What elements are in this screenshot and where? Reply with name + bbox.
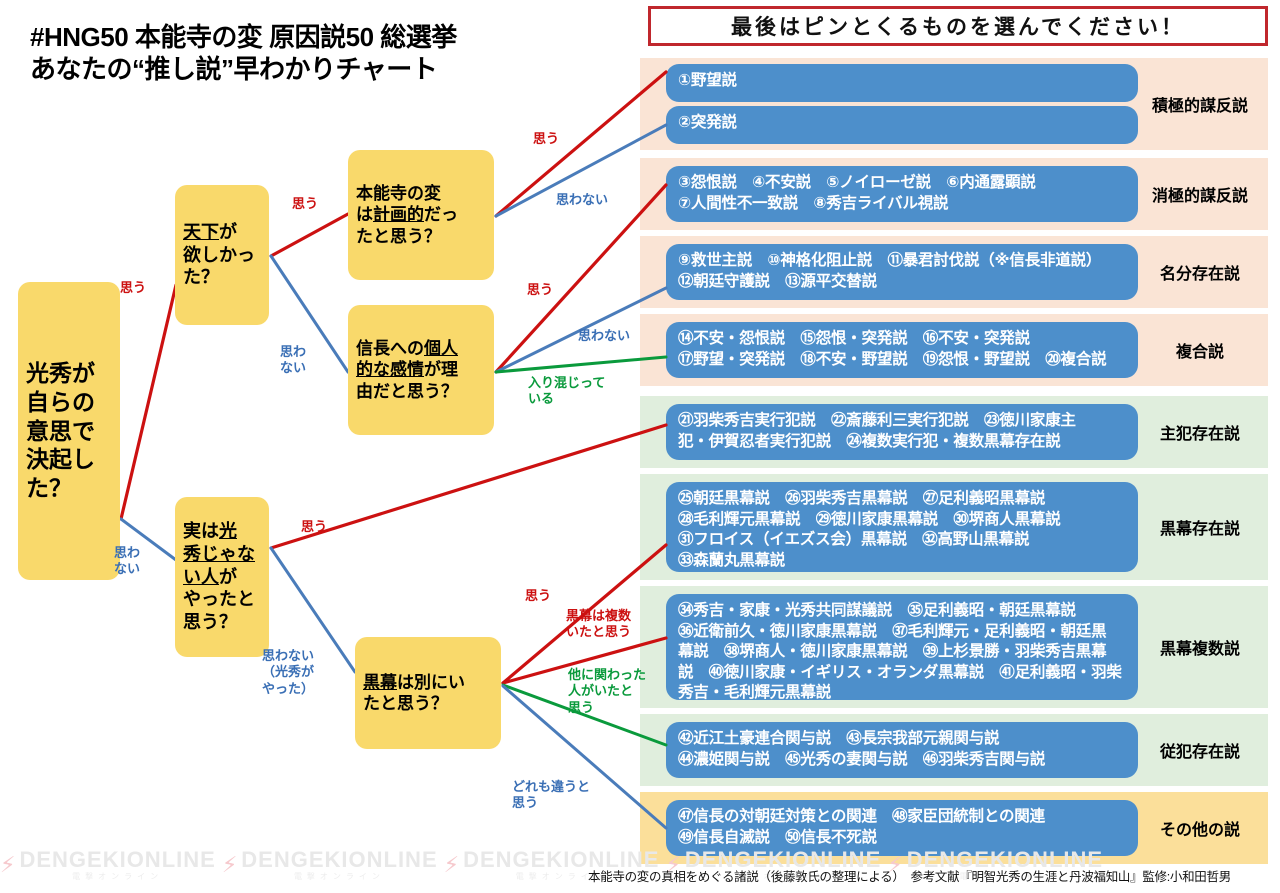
edge-label-kanjo-mixed: 入り混じって いる: [528, 375, 605, 408]
footer-credit: 本能寺の変の真相をめぐる諸説（後藤敦氏の整理による） 参考文献『明智光秀の生涯と…: [588, 866, 1278, 885]
row-shoukyokuteki-category: 消極的謀反説: [1138, 158, 1262, 230]
watermark-logo: ⚡DENGEKIONLINE電撃オンライン: [222, 849, 438, 881]
edge-label-tenka-no: 思わ ない: [280, 344, 306, 377]
instruction-banner-text: 最後はピンとくるものを選んでください！: [731, 11, 1185, 41]
edge-root-yes: [121, 285, 176, 519]
row-kuromaku-fukusu-pill[interactable]: ㉞秀吉・家康・光秀共同謀議説 ㉟足利義昭・朝廷黒幕説㊱近衛前久・徳川家康黒幕説 …: [666, 594, 1138, 700]
lightning-bolt-icon: ⚡: [444, 854, 459, 876]
edge-label-keikaku-yes: 思う: [533, 131, 559, 147]
watermark-logo: ⚡DENGEKIONLINE電撃オンライン: [0, 849, 216, 881]
row-juhan: ㊷近江土豪連合関与説 ㊸長宗我部元親関与説㊹濃姫関与説 ㊺光秀の妻関与説 ㊻羽柴…: [640, 714, 1268, 786]
lightning-bolt-icon: ⚡: [222, 854, 237, 876]
row-meibun: ⑨救世主説 ⑩神格化阻止説 ⑪暴君討伐説（※信長非道説）⑫朝廷守護説 ⑬源平交替…: [640, 236, 1268, 308]
question-tenka-label: 天下が欲しかった？: [183, 221, 255, 289]
question-kuromaku[interactable]: 黒幕は別にいたと思う？: [355, 637, 501, 749]
row-shuhan: ㉑羽柴秀吉実行犯説 ㉒斎藤利三実行犯説 ㉓徳川家康主犯・伊賀忍者実行犯説 ㉔複数…: [640, 396, 1268, 468]
row-juhan-pill[interactable]: ㊷近江土豪連合関与説 ㊸長宗我部元親関与説㊹濃姫関与説 ㊺光秀の妻関与説 ㊻羽柴…: [666, 722, 1138, 778]
edge-label-kuromaku-yes: 思う: [525, 588, 551, 604]
question-root[interactable]: 光秀が自らの意思で決起した？: [18, 282, 120, 580]
row-kuromaku-fukusu: ㉞秀吉・家康・光秀共同謀議説 ㉟足利義昭・朝廷黒幕説㊱近衛前久・徳川家康黒幕説 …: [640, 586, 1268, 708]
row-shoukyokuteki-pill[interactable]: ③怨恨説 ④不安説 ⑤ノイローゼ説 ⑥内通露顕説⑦人間性不一致説 ⑧秀吉ライバル…: [666, 166, 1138, 222]
question-root-label: 光秀が自らの意思で決起した？: [26, 359, 95, 504]
edge-label-kanjo-yes: 思う: [527, 282, 553, 298]
question-keikaku-label: 本能寺の変は計画的だったと思う？: [356, 183, 458, 247]
row-kuromaku-sonzai-pill[interactable]: ㉕朝廷黒幕説 ㉖羽柴秀吉黒幕説 ㉗足利義昭黒幕説㉘毛利輝元黒幕説 ㉙徳川家康黒幕…: [666, 482, 1138, 572]
question-mitsuhide-label: 実は光秀じゃない人がやったと思う？: [183, 520, 255, 633]
row-shoukyokuteki: ③怨恨説 ④不安説 ⑤ノイローゼ説 ⑥内通露顕説⑦人間性不一致説 ⑧秀吉ライバル…: [640, 158, 1268, 230]
watermark-sub-text: 電撃オンライン: [19, 873, 215, 881]
question-tenka[interactable]: 天下が欲しかった？: [175, 185, 269, 325]
question-keikaku[interactable]: 本能寺の変は計画的だったと思う？: [348, 150, 494, 280]
lightning-bolt-icon: ⚡: [0, 854, 15, 876]
page-title: #HNG50 本能寺の変 原因説50 総選挙 あなたの“推し説”早わかりチャート: [30, 22, 630, 85]
question-kanjo[interactable]: 信長への個人的な感情が理由だと思う？: [348, 305, 494, 435]
row-juhan-category: 従犯存在説: [1138, 714, 1262, 786]
row-sekkyokuteki-pill-2[interactable]: ②突発説: [666, 106, 1138, 144]
row-kuromaku-sonzai: ㉕朝廷黒幕説 ㉖羽柴秀吉黒幕説 ㉗足利義昭黒幕説㉘毛利輝元黒幕説 ㉙徳川家康黒幕…: [640, 474, 1268, 580]
title-line-2: あなたの“推し説”早わかりチャート: [30, 54, 630, 86]
edge-label-kuromaku-none: どれも違うと 思う: [512, 779, 590, 812]
watermark-sub-text: 電撃オンライン: [241, 873, 437, 881]
edge-label-mitsuhide-yes: 思う: [301, 519, 327, 535]
row-meibun-pill[interactable]: ⑨救世主説 ⑩神格化阻止説 ⑪暴君討伐説（※信長非道説）⑫朝廷守護説 ⑬源平交替…: [666, 244, 1138, 300]
row-sekkyokuteki: ①野望説②突発説積極的謀反説: [640, 58, 1268, 150]
edge-mitsuhide-yes: [271, 425, 666, 548]
row-fukugou: ⑭不安・怨恨説 ⑮怨恨・突発説 ⑯不安・突発説⑰野望・突発説 ⑱不安・野望説 ⑲…: [640, 314, 1268, 386]
edge-tenka-yes: [271, 214, 348, 256]
row-sekkyokuteki-pill-1[interactable]: ①野望説: [666, 64, 1138, 102]
edge-label-kanjo-no: 思わない: [578, 328, 630, 344]
row-shuhan-category: 主犯存在説: [1138, 396, 1262, 468]
question-kanjo-label: 信長への個人的な感情が理由だと思う？: [356, 338, 458, 402]
edge-label-keikaku-no: 思わない: [556, 192, 608, 208]
row-fukugou-pill[interactable]: ⑭不安・怨恨説 ⑮怨恨・突発説 ⑯不安・突発説⑰野望・突発説 ⑱不安・野望説 ⑲…: [666, 322, 1138, 378]
title-line-1: #HNG50 本能寺の変 原因説50 総選挙: [30, 22, 630, 54]
edge-label-kuromaku-other: 他に関わった 人がいたと 思う: [568, 667, 646, 716]
watermark-main-text: DENGEKIONLINE: [19, 849, 215, 871]
row-fukugou-category: 複合説: [1138, 314, 1262, 386]
row-meibun-category: 名分存在説: [1138, 236, 1262, 308]
edge-label-root-yes: 思う: [120, 280, 146, 296]
edge-label-tenka-yes: 思う: [292, 196, 318, 212]
edge-label-root-no: 思わ ない: [114, 545, 140, 578]
instruction-banner: 最後はピンとくるものを選んでください！: [648, 6, 1268, 46]
row-shuhan-pill[interactable]: ㉑羽柴秀吉実行犯説 ㉒斎藤利三実行犯説 ㉓徳川家康主犯・伊賀忍者実行犯説 ㉔複数…: [666, 404, 1138, 460]
question-kuromaku-label: 黒幕は別にいたと思う？: [363, 672, 465, 715]
watermark-main-text: DENGEKIONLINE: [241, 849, 437, 871]
row-kuromaku-fukusu-category: 黒幕複数説: [1138, 586, 1262, 708]
edge-label-mitsuhide-no: 思わない （光秀が やった）: [262, 648, 314, 697]
question-mitsuhide[interactable]: 実は光秀じゃない人がやったと思う？: [175, 497, 269, 657]
edge-label-kuromaku-multi: 黒幕は複数 いたと思う: [566, 608, 631, 641]
row-sekkyokuteki-category: 積極的謀反説: [1138, 58, 1262, 150]
row-kuromaku-sonzai-category: 黒幕存在説: [1138, 474, 1262, 580]
